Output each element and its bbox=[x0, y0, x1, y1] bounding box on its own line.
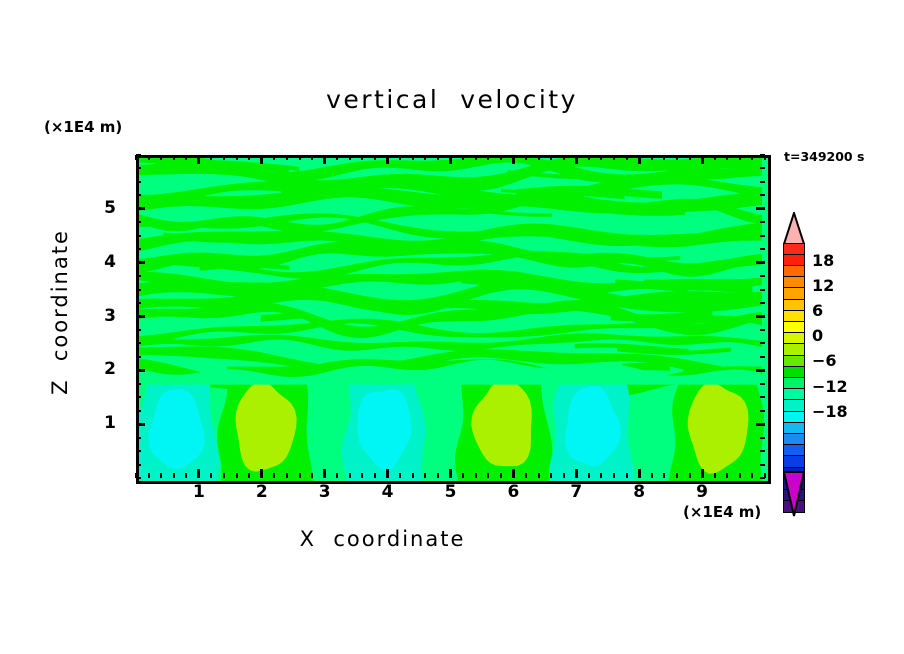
y-tick bbox=[136, 235, 141, 237]
y-tick bbox=[136, 477, 141, 479]
x-tick bbox=[751, 155, 753, 160]
x-tick bbox=[701, 155, 704, 164]
x-tick bbox=[613, 155, 615, 160]
y-tick bbox=[136, 315, 145, 318]
y-tick bbox=[760, 154, 765, 156]
y-tick bbox=[136, 221, 141, 223]
y-tick bbox=[760, 450, 765, 452]
y-tick bbox=[136, 302, 141, 304]
x-tick bbox=[563, 155, 565, 160]
x-tick bbox=[374, 473, 376, 478]
x-tick-label: 8 bbox=[624, 482, 654, 502]
y-tick bbox=[760, 248, 765, 250]
x-tick bbox=[462, 155, 464, 160]
x-tick-label: 4 bbox=[373, 482, 403, 502]
x-tick-label: 6 bbox=[498, 482, 528, 502]
y-tick bbox=[136, 464, 141, 466]
x-tick bbox=[714, 473, 716, 478]
x-tick bbox=[663, 473, 665, 478]
y-tick bbox=[756, 315, 765, 318]
x-tick bbox=[374, 155, 376, 160]
y-tick-label: 2 bbox=[90, 359, 116, 379]
y-tick bbox=[136, 437, 141, 439]
y-tick bbox=[756, 261, 765, 264]
y-axis-title: Z coordinate bbox=[48, 212, 72, 412]
figure-canvas: vertical velocity (×1E4 m) (×1E4 m) t=34… bbox=[0, 0, 904, 654]
y-tick bbox=[136, 261, 145, 264]
x-tick bbox=[197, 155, 200, 164]
x-tick bbox=[424, 473, 426, 478]
x-tick bbox=[626, 473, 628, 478]
x-tick bbox=[512, 469, 515, 478]
y-tick bbox=[760, 194, 765, 196]
colorbar-tick-label: 0 bbox=[812, 326, 823, 345]
x-tick bbox=[148, 155, 150, 160]
y-tick bbox=[136, 356, 141, 358]
x-tick bbox=[210, 155, 212, 160]
x-tick bbox=[424, 155, 426, 160]
x-tick bbox=[185, 155, 187, 160]
x-axis-title: X coordinate bbox=[0, 527, 765, 551]
y-tick bbox=[136, 275, 141, 277]
x-tick bbox=[676, 473, 678, 478]
colorbar-tick-label: −18 bbox=[812, 402, 848, 421]
x-tick bbox=[223, 473, 225, 478]
x-tick bbox=[236, 473, 238, 478]
colorbar-tick-label: −12 bbox=[812, 377, 848, 396]
contour-field bbox=[139, 158, 768, 481]
y-tick bbox=[760, 383, 765, 385]
x-tick bbox=[600, 155, 602, 160]
y-tick bbox=[760, 221, 765, 223]
x-tick bbox=[449, 469, 452, 478]
x-tick bbox=[286, 155, 288, 160]
y-tick bbox=[760, 275, 765, 277]
x-tick bbox=[260, 469, 263, 478]
y-tick bbox=[136, 167, 141, 169]
y-tick bbox=[136, 248, 141, 250]
y-tick bbox=[136, 194, 141, 196]
x-tick bbox=[361, 155, 363, 160]
x-tick bbox=[739, 155, 741, 160]
x-tick-label: 7 bbox=[561, 482, 591, 502]
x-tick bbox=[588, 473, 590, 478]
x-tick bbox=[701, 469, 704, 478]
x-tick bbox=[299, 155, 301, 160]
x-tick bbox=[412, 155, 414, 160]
x-axis-unit-label: (×1E4 m) bbox=[683, 503, 761, 521]
x-tick bbox=[386, 155, 389, 164]
x-tick bbox=[349, 473, 351, 478]
y-tick bbox=[756, 423, 765, 426]
x-tick bbox=[739, 473, 741, 478]
y-tick bbox=[760, 356, 765, 358]
x-tick bbox=[751, 473, 753, 478]
x-tick bbox=[538, 155, 540, 160]
x-tick bbox=[689, 473, 691, 478]
x-tick bbox=[538, 473, 540, 478]
y-tick bbox=[756, 369, 765, 372]
x-tick bbox=[638, 155, 641, 164]
x-tick bbox=[437, 155, 439, 160]
x-tick bbox=[487, 155, 489, 160]
colorbar-tick-label: 18 bbox=[812, 251, 834, 270]
y-tick bbox=[760, 289, 765, 291]
x-tick bbox=[651, 155, 653, 160]
colorbar-top-arrow bbox=[783, 212, 805, 245]
y-tick bbox=[760, 477, 765, 479]
x-tick-label: 5 bbox=[436, 482, 466, 502]
x-tick bbox=[148, 473, 150, 478]
x-tick-label: 9 bbox=[687, 482, 717, 502]
timestamp-label: t=349200 s bbox=[784, 149, 864, 164]
x-tick-label: 2 bbox=[247, 482, 277, 502]
y-tick bbox=[136, 396, 141, 398]
x-tick bbox=[236, 155, 238, 160]
x-tick-label: 1 bbox=[184, 482, 214, 502]
x-tick bbox=[336, 473, 338, 478]
x-tick bbox=[336, 155, 338, 160]
x-tick-label: 3 bbox=[310, 482, 340, 502]
x-tick bbox=[223, 155, 225, 160]
y-tick bbox=[760, 396, 765, 398]
chart-title: vertical velocity bbox=[0, 85, 904, 114]
x-tick bbox=[437, 473, 439, 478]
x-tick bbox=[500, 473, 502, 478]
x-tick bbox=[273, 473, 275, 478]
x-tick bbox=[525, 473, 527, 478]
y-tick bbox=[136, 154, 141, 156]
x-tick bbox=[185, 473, 187, 478]
x-tick bbox=[575, 469, 578, 478]
x-tick bbox=[173, 155, 175, 160]
x-tick bbox=[399, 155, 401, 160]
x-tick bbox=[412, 473, 414, 478]
x-tick bbox=[563, 473, 565, 478]
x-tick bbox=[525, 155, 527, 160]
y-tick bbox=[136, 207, 145, 210]
x-tick bbox=[248, 155, 250, 160]
x-tick bbox=[638, 469, 641, 478]
x-tick bbox=[286, 473, 288, 478]
y-tick bbox=[136, 181, 141, 183]
x-tick bbox=[500, 155, 502, 160]
x-tick bbox=[550, 155, 552, 160]
x-tick bbox=[512, 155, 515, 164]
y-tick-label: 4 bbox=[90, 252, 116, 272]
x-tick bbox=[676, 155, 678, 160]
x-tick bbox=[575, 155, 578, 164]
colorbar-tick-label: 6 bbox=[812, 301, 823, 320]
x-tick bbox=[323, 469, 326, 478]
y-tick-label: 1 bbox=[90, 413, 116, 433]
x-tick bbox=[449, 155, 452, 164]
y-tick bbox=[136, 383, 141, 385]
y-tick bbox=[136, 342, 141, 344]
y-tick bbox=[136, 329, 141, 331]
x-tick bbox=[475, 473, 477, 478]
y-tick bbox=[136, 289, 141, 291]
x-tick bbox=[651, 473, 653, 478]
x-tick bbox=[613, 473, 615, 478]
x-tick bbox=[210, 473, 212, 478]
y-tick-label: 5 bbox=[90, 198, 116, 218]
x-tick bbox=[588, 155, 590, 160]
x-tick bbox=[726, 473, 728, 478]
y-tick bbox=[136, 423, 145, 426]
y-tick bbox=[760, 167, 765, 169]
x-tick bbox=[726, 155, 728, 160]
x-tick bbox=[475, 155, 477, 160]
x-tick bbox=[361, 473, 363, 478]
y-tick bbox=[756, 207, 765, 210]
y-tick bbox=[136, 450, 141, 452]
y-tick bbox=[136, 369, 145, 372]
y-tick-label: 3 bbox=[90, 306, 116, 326]
x-tick bbox=[462, 473, 464, 478]
x-tick bbox=[323, 155, 326, 164]
colorbar-tick-label: 12 bbox=[812, 276, 834, 295]
x-tick bbox=[160, 473, 162, 478]
y-tick bbox=[136, 410, 141, 412]
y-axis-unit-label: (×1E4 m) bbox=[44, 118, 122, 136]
x-tick bbox=[349, 155, 351, 160]
x-tick bbox=[550, 473, 552, 478]
contour-plot-area[interactable] bbox=[136, 155, 771, 484]
colorbar-tick-label: −6 bbox=[812, 351, 837, 370]
y-tick bbox=[760, 302, 765, 304]
x-tick bbox=[600, 473, 602, 478]
y-tick bbox=[760, 342, 765, 344]
x-tick bbox=[273, 155, 275, 160]
x-tick bbox=[487, 473, 489, 478]
y-tick bbox=[760, 235, 765, 237]
y-tick bbox=[760, 437, 765, 439]
colorbar-bottom-arrow bbox=[783, 471, 805, 517]
x-tick bbox=[399, 473, 401, 478]
x-tick bbox=[173, 473, 175, 478]
x-tick bbox=[689, 155, 691, 160]
x-tick bbox=[160, 155, 162, 160]
x-tick bbox=[197, 469, 200, 478]
x-tick bbox=[248, 473, 250, 478]
y-tick bbox=[760, 464, 765, 466]
x-tick bbox=[260, 155, 263, 164]
y-tick bbox=[760, 329, 765, 331]
x-tick bbox=[714, 155, 716, 160]
x-tick bbox=[626, 155, 628, 160]
x-tick bbox=[299, 473, 301, 478]
y-tick bbox=[760, 410, 765, 412]
y-tick bbox=[760, 181, 765, 183]
x-tick bbox=[311, 473, 313, 478]
x-tick bbox=[311, 155, 313, 160]
x-tick bbox=[386, 469, 389, 478]
x-tick bbox=[663, 155, 665, 160]
